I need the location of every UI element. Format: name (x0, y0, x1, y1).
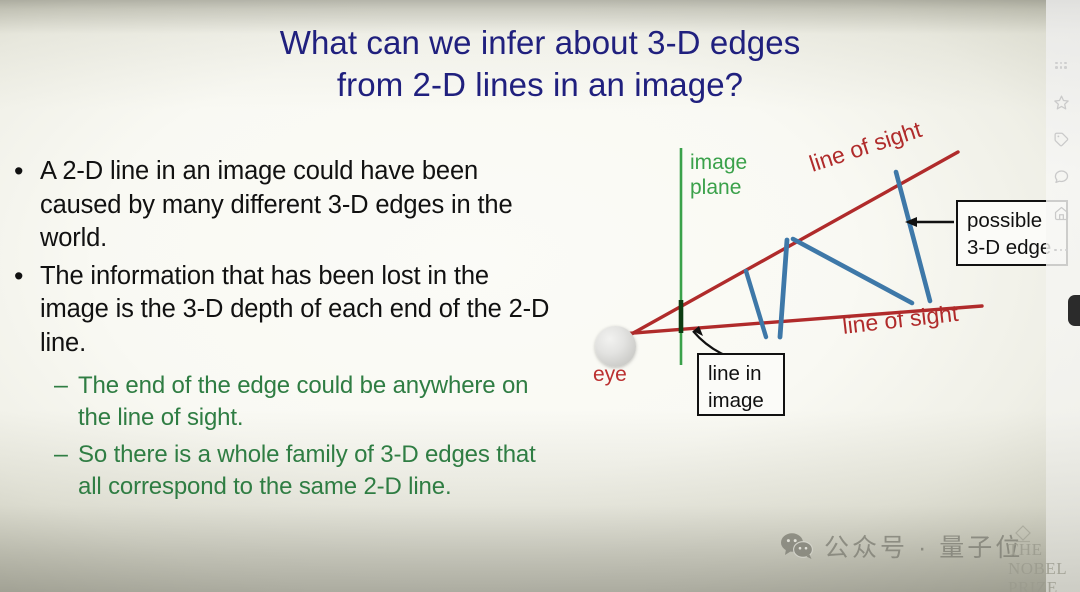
wechat-watermark: 公众号 · 量子位 (780, 528, 1023, 564)
list-item: – So there is a whole family of 3-D edge… (54, 439, 554, 502)
bullet-marker: • (14, 155, 40, 188)
bullet-text: A 2-D line in an image could have been c… (40, 155, 554, 256)
bullet-text: So there is a whole family of 3-D edges … (78, 439, 554, 502)
line-of-sight-diagram (580, 130, 1080, 430)
wechat-icon (780, 532, 814, 560)
title-line-2: from 2-D lines in an image? (0, 64, 1080, 106)
line-in-image-callout: line in image (697, 353, 785, 416)
star-icon[interactable] (1048, 87, 1074, 117)
bullet-text: The information that has been lost in th… (40, 260, 554, 361)
title-line-1: What can we infer about 3-D edges (0, 22, 1080, 64)
edge-drawer-handle[interactable] (1068, 295, 1080, 326)
eye-label: eye (593, 363, 627, 387)
line-in-image-callout-text: line in image (708, 362, 764, 412)
possible-3d-edge-callout-text: possible 3-D edge (967, 209, 1051, 259)
bullet-marker: • (14, 260, 40, 293)
tag-icon[interactable] (1048, 124, 1074, 154)
list-item: • The information that has been lost in … (14, 260, 554, 361)
comment-icon[interactable] (1048, 161, 1074, 191)
ellipsis-icon[interactable] (1048, 235, 1074, 265)
ellipsis-glyph (1054, 249, 1068, 252)
bullet-list: • A 2-D line in an image could have been… (14, 155, 554, 504)
right-sidebar-icon-list (1048, 50, 1076, 272)
list-item: • A 2-D line in an image could have been… (14, 155, 554, 256)
image-plane-label: image plane (690, 150, 747, 200)
diagram-canvas (580, 130, 1080, 430)
bullet-marker: – (54, 370, 78, 401)
possible-3d-edge-3 (793, 239, 912, 303)
nobel-line-3: PRIZE (1008, 578, 1078, 592)
nobel-prize-watermark: THE NOBEL PRIZE (1008, 540, 1078, 592)
nobel-line-2: NOBEL (1008, 559, 1078, 578)
list-item: – The end of the edge could be anywhere … (54, 370, 554, 433)
eye-sphere-icon (595, 326, 636, 367)
possible-3d-edge-1 (746, 271, 766, 337)
bullet-marker: – (54, 439, 78, 470)
possible-3d-edge-4 (896, 172, 930, 301)
bullet-text: The end of the edge could be anywhere on… (78, 370, 554, 433)
nobel-line-1: THE (1008, 540, 1078, 559)
image-plane-label-text: image plane (690, 151, 747, 199)
grid-dots-glyph (1055, 62, 1067, 69)
presentation-slide: What can we infer about 3-D edges from 2… (0, 0, 1080, 592)
grid-dots-icon[interactable] (1048, 50, 1074, 80)
page-title: What can we infer about 3-D edges from 2… (0, 22, 1080, 106)
home-icon[interactable] (1048, 198, 1074, 228)
watermark-text: 公众号 · 量子位 (824, 528, 1023, 564)
